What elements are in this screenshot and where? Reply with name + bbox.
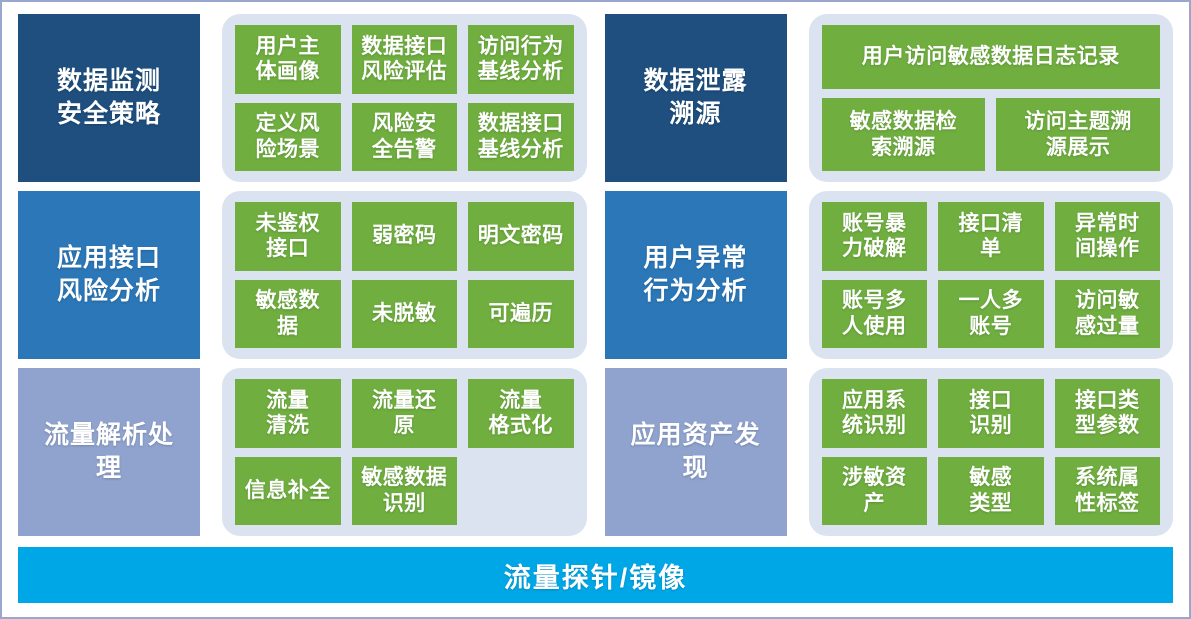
chip-label-line1: 敏感 <box>969 466 1012 489</box>
chip-label-line1: 流量 <box>266 389 309 412</box>
chip-risk-security-alert[interactable]: 风险安 全告警 <box>352 103 458 172</box>
category-label-line2: 安全策略 <box>57 98 161 131</box>
chip-label-line1: 未鉴权 <box>256 212 321 235</box>
chip-row: 账号多 人使用 一人多 账号 访问敏 <box>822 280 1161 349</box>
chip-data-interface-baseline-analysis[interactable]: 数据接口 基线分析 <box>468 103 574 172</box>
chip-row: 未鉴权 接口 弱密码 明文密码 <box>235 202 574 271</box>
chip-row: 用户访问敏感数据日志记录 <box>822 25 1161 89</box>
chip-label-line1: 接口 <box>969 389 1012 412</box>
diagram-canvas: 数据监测 安全策略 用户主 体画像 <box>8 8 1183 611</box>
chip-traffic-cleaning[interactable]: 流量 清洗 <box>235 379 341 448</box>
chip-label-line1: 弱密码 <box>372 224 437 247</box>
chip-label-line1: 敏感数据 <box>361 466 447 489</box>
category-block-data-leak-traceability[interactable]: 数据泄露 溯源 <box>605 14 787 182</box>
chip-data-interface-risk-assessment[interactable]: 数据接口 风险评估 <box>352 25 458 94</box>
chip-label-line1: 访问敏 <box>1075 289 1140 312</box>
chip-define-risk-scenario[interactable]: 定义风 险场景 <box>235 103 341 172</box>
chip-traffic-restoration[interactable]: 流量还 原 <box>352 379 458 448</box>
chip-sensitive-data-identification[interactable]: 敏感数据 识别 <box>352 457 458 526</box>
chip-panel-data-monitoring-policy: 用户主 体画像 数据接口 风险评估 访问行为 <box>222 14 587 182</box>
group-traffic-parsing-processing: 流量解析处 理 流量 清洗 流量 <box>18 368 587 536</box>
chip-row: 信息补全 敏感数据 识别 <box>235 457 574 526</box>
chip-label-line1: 访问主题溯 <box>1024 110 1132 133</box>
chip-label-line1: 涉敏资 <box>842 466 907 489</box>
group-data-monitoring-policy: 数据监测 安全策略 用户主 体画像 <box>18 14 587 182</box>
chip-row: 应用系 统识别 接口 识别 接口类 <box>822 379 1161 448</box>
chip-label-line1: 敏感数 <box>256 289 321 312</box>
chip-label-line2: 全告警 <box>372 138 437 161</box>
chip-label-line1: 数据接口 <box>478 112 564 135</box>
chip-label-line1: 可遍历 <box>489 302 554 325</box>
chip-label-line2: 识别 <box>969 414 1012 437</box>
group-user-abnormal-behavior-analysis: 用户异常 行为分析 账号暴 力破解 <box>605 191 1174 359</box>
chip-label-line2: 账号 <box>969 315 1012 338</box>
chip-traversable[interactable]: 可遍历 <box>468 280 574 349</box>
group-data-leak-traceability: 数据泄露 溯源 用户访问敏感数据日志记录 <box>605 14 1174 182</box>
chip-sensitive-data-search-traceability[interactable]: 敏感数据检 索溯源 <box>822 98 986 171</box>
chip-row: 定义风 险场景 风险安 全告警 数据接口 <box>235 103 574 172</box>
chip-panel-app-interface-risk-analysis: 未鉴权 接口 弱密码 明文密码 <box>222 191 587 359</box>
chip-label-line2: 基线分析 <box>478 138 564 161</box>
chip-empty-placeholder <box>468 457 574 526</box>
chip-label-line1: 用户主 <box>256 35 321 58</box>
chip-sensitive-related-asset[interactable]: 涉敏资 产 <box>822 457 928 526</box>
chip-traffic-formatting[interactable]: 流量 格式化 <box>468 379 574 448</box>
chip-label-line2: 性标签 <box>1075 492 1140 515</box>
chip-label-line1: 应用系 <box>842 389 907 412</box>
category-block-data-monitoring-policy[interactable]: 数据监测 安全策略 <box>18 14 200 182</box>
category-label-line1: 数据泄露 <box>643 65 747 98</box>
chip-unauthenticated-interface[interactable]: 未鉴权 接口 <box>235 202 341 271</box>
chip-label-line2: 险场景 <box>256 138 321 161</box>
chip-sensitive-data[interactable]: 敏感数 据 <box>235 280 341 349</box>
category-label-line1: 应用接口 <box>57 242 161 275</box>
group-application-asset-discovery: 应用资产发 现 应用系 统识别 <box>605 368 1174 536</box>
category-label-line2: 风险分析 <box>57 275 161 308</box>
chip-account-brute-force[interactable]: 账号暴 力破解 <box>822 202 928 271</box>
chip-label-line2: 统识别 <box>842 414 907 437</box>
chip-label-line1: 流量 <box>499 389 542 412</box>
chip-panel-traffic-parsing-processing: 流量 清洗 流量还 原 流量 <box>222 368 587 536</box>
category-label-line2: 理 <box>44 452 174 485</box>
chip-label-line1: 数据接口 <box>361 35 447 58</box>
chip-panel-data-leak-traceability: 用户访问敏感数据日志记录 敏感数据检 索溯源 <box>809 14 1174 182</box>
chip-sensitive-data-access-log[interactable]: 用户访问敏感数据日志记录 <box>822 25 1161 89</box>
chip-label-line1: 敏感数据检 <box>850 110 958 133</box>
chip-row: 敏感数 据 未脱敏 可遍历 <box>235 280 574 349</box>
category-block-traffic-parsing-processing[interactable]: 流量解析处 理 <box>18 368 200 536</box>
chip-row: 流量 清洗 流量还 原 流量 <box>235 379 574 448</box>
chip-interface-inventory[interactable]: 接口清 单 <box>938 202 1044 271</box>
chip-label-line2: 清洗 <box>266 414 309 437</box>
chip-label-line2: 产 <box>864 492 886 515</box>
category-label-line1: 用户异常 <box>643 242 747 275</box>
traffic-probe-mirror-bar[interactable]: 流量探针/镜像 <box>18 547 1173 603</box>
chip-not-desensitized[interactable]: 未脱敏 <box>352 280 458 349</box>
chip-weak-password[interactable]: 弱密码 <box>352 202 458 271</box>
chip-panel-user-abnormal-behavior-analysis: 账号暴 力破解 接口清 单 异常时 <box>809 191 1174 359</box>
diagram-row-3: 流量解析处 理 流量 清洗 流量 <box>18 368 1173 536</box>
chip-label-line1: 一人多 <box>959 289 1024 312</box>
chip-one-person-multiple-accounts[interactable]: 一人多 账号 <box>938 280 1044 349</box>
chip-label-line1: 异常时 <box>1075 212 1140 235</box>
chip-label-line2: 格式化 <box>489 414 554 437</box>
chip-label-line2: 识别 <box>383 492 426 515</box>
chip-label-line2: 风险评估 <box>361 60 447 83</box>
chip-label-line2: 间操作 <box>1075 237 1140 260</box>
diagram-row-2: 应用接口 风险分析 未鉴权 接口 <box>18 191 1173 359</box>
category-label-line1: 数据监测 <box>57 65 161 98</box>
chip-label-line2: 类型 <box>969 492 1012 515</box>
chip-user-subject-profile[interactable]: 用户主 体画像 <box>235 25 341 94</box>
chip-panel-application-asset-discovery: 应用系 统识别 接口 识别 接口类 <box>809 368 1174 536</box>
diagram-row-1: 数据监测 安全策略 用户主 体画像 <box>18 14 1173 182</box>
chip-excessive-sensitive-access[interactable]: 访问敏 感过量 <box>1055 280 1161 349</box>
chip-label-line1: 用户访问敏感数据日志记录 <box>862 45 1120 68</box>
chip-label-line2: 型参数 <box>1075 414 1140 437</box>
chip-label-line1: 账号暴 <box>842 212 907 235</box>
category-label-line2: 溯源 <box>643 98 747 131</box>
chip-label-line2: 据 <box>277 315 299 338</box>
chip-application-system-identification[interactable]: 应用系 统识别 <box>822 379 928 448</box>
category-label-line2: 现 <box>630 452 760 485</box>
category-label-line2: 行为分析 <box>643 275 747 308</box>
chip-label-line2: 接口 <box>266 237 309 260</box>
chip-shared-account-multiple-users[interactable]: 账号多 人使用 <box>822 280 928 349</box>
chip-row: 用户主 体画像 数据接口 风险评估 访问行为 <box>235 25 574 94</box>
category-block-application-asset-discovery[interactable]: 应用资产发 现 <box>605 368 787 536</box>
chip-label-line1: 流量还 <box>372 389 437 412</box>
chip-sensitive-type[interactable]: 敏感 类型 <box>938 457 1044 526</box>
group-app-interface-risk-analysis: 应用接口 风险分析 未鉴权 接口 <box>18 191 587 359</box>
chip-label-line1: 定义风 <box>256 112 321 135</box>
chip-access-subject-traceability-display[interactable]: 访问主题溯 源展示 <box>996 98 1160 171</box>
chip-label-line2: 感过量 <box>1075 315 1140 338</box>
chip-abnormal-time-operation[interactable]: 异常时 间操作 <box>1055 202 1161 271</box>
chip-label-line2: 索溯源 <box>871 136 936 159</box>
chip-row: 涉敏资 产 敏感 类型 系统属 <box>822 457 1161 526</box>
chip-label-line2: 原 <box>394 414 416 437</box>
chip-system-attribute-tag[interactable]: 系统属 性标签 <box>1055 457 1161 526</box>
category-label-line1: 流量解析处 <box>44 419 174 452</box>
category-block-user-abnormal-behavior-analysis[interactable]: 用户异常 行为分析 <box>605 191 787 359</box>
chip-information-completion[interactable]: 信息补全 <box>235 457 341 526</box>
chip-interface-type-parameter[interactable]: 接口类 型参数 <box>1055 379 1161 448</box>
chip-label-line1: 风险安 <box>372 112 437 135</box>
architecture-diagram: 数据监测 安全策略 用户主 体画像 <box>0 0 1191 619</box>
chip-interface-identification[interactable]: 接口 识别 <box>938 379 1044 448</box>
chip-label-line2: 力破解 <box>842 237 907 260</box>
chip-label-line2: 单 <box>980 237 1002 260</box>
category-block-app-interface-risk-analysis[interactable]: 应用接口 风险分析 <box>18 191 200 359</box>
chip-label-line1: 信息补全 <box>245 479 331 502</box>
chip-label-line2: 人使用 <box>842 315 907 338</box>
category-label-line1: 应用资产发 <box>630 419 760 452</box>
chip-label-line2: 源展示 <box>1046 136 1111 159</box>
chip-label-line1: 未脱敏 <box>372 302 437 325</box>
chip-label-line1: 账号多 <box>842 289 907 312</box>
chip-row: 敏感数据检 索溯源 访问主题溯 源展示 <box>822 98 1161 171</box>
chip-label-line1: 系统属 <box>1075 466 1140 489</box>
chip-row: 账号暴 力破解 接口清 单 异常时 <box>822 202 1161 271</box>
chip-label-line1: 明文密码 <box>478 224 564 247</box>
chip-label-line2: 基线分析 <box>478 60 564 83</box>
bottom-bar-label: 流量探针/镜像 <box>504 556 688 595</box>
chip-plaintext-password[interactable]: 明文密码 <box>468 202 574 271</box>
chip-access-behavior-baseline-analysis[interactable]: 访问行为 基线分析 <box>468 25 574 94</box>
chip-label-line1: 接口类 <box>1075 389 1140 412</box>
chip-label-line1: 访问行为 <box>478 35 564 58</box>
chip-label-line2: 体画像 <box>256 60 321 83</box>
chip-label-line1: 接口清 <box>959 212 1024 235</box>
